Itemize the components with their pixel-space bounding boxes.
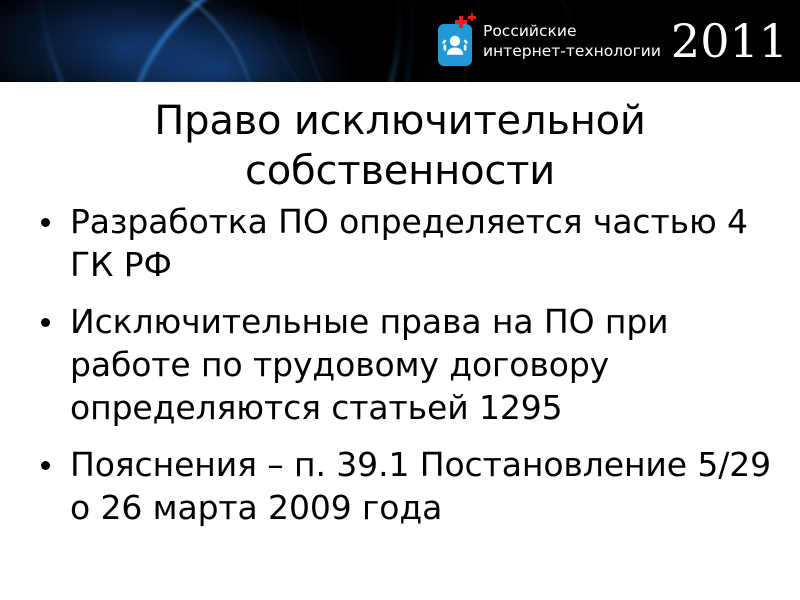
bullet-dot-icon bbox=[41, 318, 50, 327]
logo-wordmark: Российские интернет-технологии bbox=[483, 21, 661, 61]
slide-bullet-list: Разработка ПО определяется частью 4 ГК Р… bbox=[34, 200, 774, 543]
logo-mark-wrapper bbox=[438, 16, 474, 66]
header-banner: Российские интернет-технологии 2011 bbox=[0, 0, 800, 82]
logo-year: 2011 bbox=[671, 18, 788, 64]
bullet-text: Исключительные права на ПО при работе по… bbox=[70, 300, 774, 429]
logo-wordmark-line2: интернет-технологии bbox=[483, 41, 661, 61]
conference-logo: Российские интернет-технологии 2011 bbox=[438, 8, 788, 74]
bullet-item: Исключительные права на ПО при работе по… bbox=[34, 300, 774, 429]
slide: Российские интернет-технологии 2011 Прав… bbox=[0, 0, 800, 600]
bullet-dot-icon bbox=[41, 218, 50, 227]
bullet-item: Разработка ПО определяется частью 4 ГК Р… bbox=[34, 200, 774, 286]
bullet-item: Пояснения – п. 39.1 Постановление 5/29 о… bbox=[34, 443, 774, 529]
logo-wordmark-line1: Российские bbox=[483, 21, 661, 41]
banner-glow-mid bbox=[90, 10, 350, 82]
plus-icon-small bbox=[468, 13, 476, 21]
bullet-dot-icon bbox=[41, 461, 50, 470]
bullet-text: Пояснения – п. 39.1 Постановление 5/29 о… bbox=[70, 443, 774, 529]
bullet-text: Разработка ПО определяется частью 4 ГК Р… bbox=[70, 200, 774, 286]
plus-signs-group bbox=[455, 13, 487, 31]
plus-icon-large bbox=[455, 16, 467, 28]
slide-title: Право исключительной собственности bbox=[40, 96, 760, 196]
